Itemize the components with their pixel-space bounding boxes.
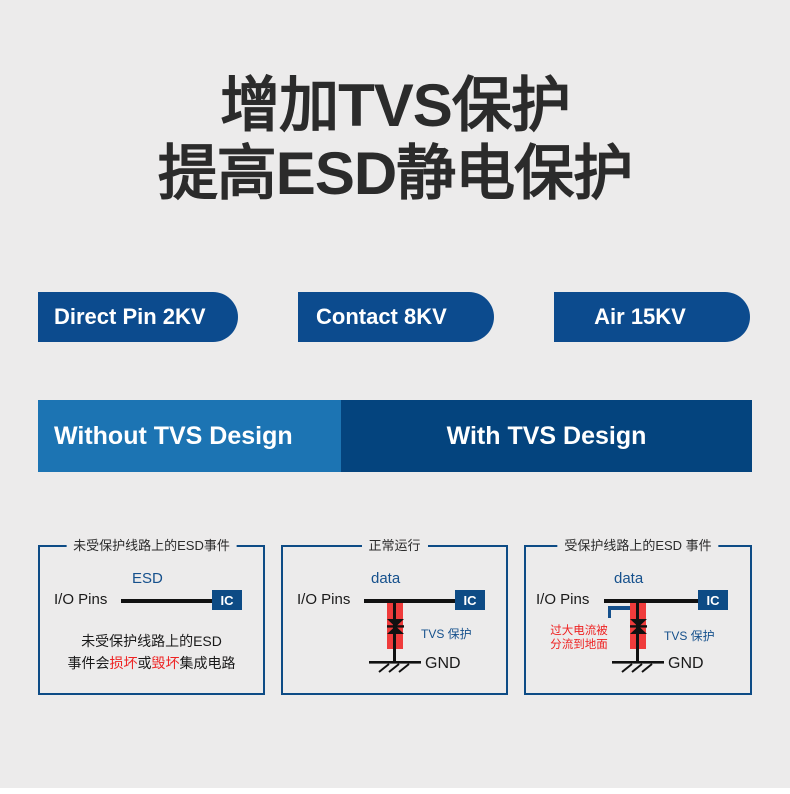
- panel-body: I/O Pins data IC: [526, 547, 750, 693]
- diagram-panel-protected: 受保护线路上的ESD 事件 I/O Pins data IC: [524, 545, 752, 695]
- diagram-panel-unprotected: 未受保护线路上的ESD事件 I/O Pins ESD IC 未受保护线路上的ES…: [38, 545, 265, 695]
- signal-wire: [604, 599, 700, 603]
- signal-wire: [121, 599, 214, 603]
- spec-pill-group: Direct Pin 2KV Contact 8KV Air 15KV: [0, 292, 790, 342]
- data-signal-label: data: [614, 570, 643, 587]
- panel-body: I/O Pins data IC: [283, 547, 506, 693]
- title-line-1: 增加TVS保护: [0, 72, 790, 140]
- esd-signal-label: ESD: [132, 570, 163, 587]
- diagram-panel-normal-operation: 正常运行 I/O Pins data IC: [281, 545, 508, 695]
- io-pins-label: I/O Pins: [54, 591, 107, 608]
- comparison-bar: Without TVS Design With TVS Design: [38, 400, 752, 472]
- panel-caption-line-1: 未受保护线路上的ESD: [40, 630, 263, 652]
- tvs-diode-icon: [626, 615, 651, 637]
- caption-text-mid: 或: [138, 655, 152, 671]
- caption-text-pre: 事件会: [68, 655, 110, 671]
- comparison-bar-left-label: Without TVS Design: [54, 422, 293, 451]
- spec-pill-label: Contact 8KV: [316, 304, 447, 330]
- gnd-label: GND: [668, 655, 704, 673]
- io-pins-label: I/O Pins: [536, 591, 589, 608]
- comparison-bar-right: With TVS Design: [341, 400, 752, 472]
- bottom-white-strip: [0, 788, 790, 794]
- title-line-2: 提高ESD静电保护: [0, 140, 790, 208]
- spec-pill-direct-pin[interactable]: Direct Pin 2KV: [38, 292, 238, 342]
- diagram-panel-group: 未受保护线路上的ESD事件 I/O Pins ESD IC 未受保护线路上的ES…: [38, 545, 752, 695]
- io-pins-label: I/O Pins: [297, 591, 350, 608]
- comparison-bar-left: Without TVS Design: [38, 400, 341, 472]
- current-divert-note-line-2: 分流到地面: [532, 638, 626, 652]
- data-signal-label: data: [371, 570, 400, 587]
- signal-wire: [364, 599, 457, 603]
- ic-label: IC: [707, 593, 720, 608]
- ic-label: IC: [464, 593, 477, 608]
- spec-pill-air[interactable]: Air 15KV: [554, 292, 750, 342]
- spec-pill-label: Direct Pin 2KV: [54, 304, 206, 330]
- comparison-bar-right-label: With TVS Design: [447, 422, 647, 451]
- caption-text-post: 集成电路: [180, 655, 236, 671]
- panel-body: I/O Pins ESD IC 未受保护线路上的ESD 事件会损坏或毁坏集成电路: [40, 547, 263, 693]
- panel-caption-line-2: 事件会损坏或毁坏集成电路: [40, 652, 263, 674]
- ic-label: IC: [221, 593, 234, 608]
- ic-box: IC: [455, 590, 485, 610]
- spec-pill-contact[interactable]: Contact 8KV: [298, 292, 494, 342]
- ground-icon: [369, 657, 425, 677]
- tvs-diode-icon: [383, 615, 408, 637]
- page-title: 增加TVS保护 提高ESD静电保护: [0, 72, 790, 208]
- tvs-protection-label: TVS 保护: [421, 625, 472, 642]
- tvs-protection-label: TVS 保护: [664, 627, 715, 644]
- gnd-label: GND: [425, 655, 461, 673]
- current-divert-note: 过大电流被 分流到地面: [532, 624, 626, 652]
- ground-icon: [612, 657, 668, 677]
- current-divert-note-line-1: 过大电流被: [532, 624, 626, 638]
- caption-text-destroy: 毁坏: [152, 655, 180, 671]
- spec-pill-label: Air 15KV: [594, 304, 686, 330]
- caption-text-damage: 损坏: [110, 655, 138, 671]
- poster-canvas: 增加TVS保护 提高ESD静电保护 Direct Pin 2KV Contact…: [0, 0, 790, 794]
- ic-box: IC: [698, 590, 728, 610]
- ic-box: IC: [212, 590, 242, 610]
